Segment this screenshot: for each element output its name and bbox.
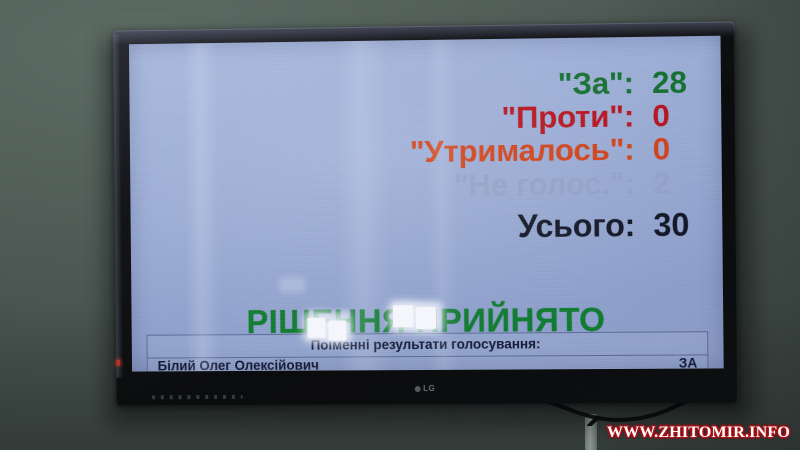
ir-sensor-strip: [152, 395, 243, 399]
result-row-total: Усього: 30: [518, 208, 699, 243]
rollcall-member-name: Білий Олег Олексійович: [158, 358, 319, 372]
rollcall-table: Поіменні результати голосування: Білий О…: [146, 331, 708, 371]
result-value-not-voted: 2: [635, 167, 698, 200]
lg-logo-mark-icon: [414, 386, 420, 392]
result-row-not-voted: "Не голос.": 2: [454, 167, 698, 202]
site-watermark: WWW.ZHITOMIR.INFO: [607, 424, 790, 442]
lg-brand-logo: LG: [116, 382, 738, 394]
result-label-abstain: "Утрималось":: [410, 133, 635, 168]
result-value-abstain: 0: [634, 133, 697, 166]
result-value-against: 0: [634, 99, 697, 132]
tv-bezel: "За": 28 "Проти": 0 "Утрималось": 0 "Не …: [113, 21, 738, 405]
result-label-for: "За":: [558, 67, 634, 100]
result-label-against: "Проти":: [501, 100, 634, 134]
result-label-total: Усього:: [518, 209, 636, 243]
ceiling-lamp-reflection-halo-3: [279, 277, 305, 293]
result-row-for: "За": 28: [558, 66, 697, 100]
result-row-against: "Проти": 0: [501, 99, 697, 133]
result-value-total: 30: [635, 208, 698, 242]
tv-screen-panel: "За": 28 "Проти": 0 "Утрималось": 0 "Не …: [129, 36, 724, 372]
vote-results-block: "За": 28 "Проти": 0 "Утрималось": 0 "Не …: [129, 66, 698, 246]
table-row: Білий Олег Олексійович ЗА: [148, 355, 708, 371]
result-row-abstain: "Утрималось": 0: [410, 133, 698, 168]
power-indicator-led: [116, 360, 120, 366]
wall-mounted-television: "За": 28 "Проти": 0 "Утрималось": 0 "Не …: [113, 21, 738, 405]
screenshot-scene: "За": 28 "Проти": 0 "Утрималось": 0 "Не …: [0, 0, 800, 450]
result-label-not-voted: "Не голос.":: [454, 167, 635, 201]
rollcall-table-header: Поіменні результати голосування:: [147, 332, 707, 358]
result-value-for: 28: [634, 66, 697, 99]
rollcall-member-vote: ЗА: [679, 355, 698, 370]
lg-logo-text: LG: [423, 384, 435, 393]
